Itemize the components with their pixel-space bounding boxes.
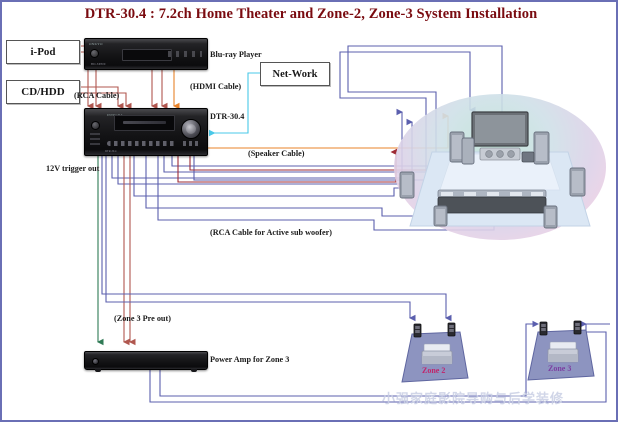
bluray-model-text: BD-SP809 <box>91 62 106 66</box>
zone3-room: Zone 3 <box>522 318 600 386</box>
label-rca-cable: (RCA Cable) <box>74 91 119 100</box>
receiver-front-text: DTR-30.4 <box>105 150 116 153</box>
bluray-player-device[interactable]: ONKYO BD-SP809 <box>84 38 208 70</box>
diagram-canvas: DTR-30.4 : 7.2ch Home Theater and Zone-2… <box>0 0 618 422</box>
bluray-brand-mark: ONKYO <box>89 42 103 46</box>
receiver-aux-buttons[interactable] <box>183 141 199 146</box>
zone2-label: Zone 2 <box>422 366 445 375</box>
label-12v-trigger-out: 12V trigger out <box>46 164 99 173</box>
label-subwoofer-cable: (RCA Cable for Active sub woofer) <box>210 228 332 237</box>
main-theater-room <box>394 94 606 240</box>
receiver-display <box>114 115 175 131</box>
source-box-cdhdd[interactable]: CD/HDD <box>6 80 80 104</box>
power-amp-device[interactable] <box>84 351 208 370</box>
network-label: Net-Work <box>273 69 318 80</box>
receiver-power-button[interactable] <box>91 121 100 130</box>
receiver-side-buttons[interactable] <box>90 133 100 147</box>
zone3-label: Zone 3 <box>548 364 571 373</box>
ipod-label: i-Pod <box>30 46 55 58</box>
bluray-disc-tray <box>122 49 173 61</box>
receiver-input-buttons[interactable] <box>107 141 177 146</box>
label-speaker-cable: (Speaker Cable) <box>248 149 304 158</box>
power-amp-led <box>92 358 99 365</box>
bluray-power-knob[interactable] <box>90 49 99 58</box>
label-hdmi-cable: (HDMI Cable) <box>190 82 241 91</box>
label-zone3-pre-out: (Zone 3 Pre out) <box>114 314 171 323</box>
label-bluray-player: Blu-ray Player <box>210 50 262 59</box>
source-box-ipod[interactable]: i-Pod <box>6 40 80 64</box>
watermark-text: 小强家庭影院导购与后学装修 <box>382 388 564 407</box>
zone2-room: Zone 2 <box>398 320 476 388</box>
cdhdd-label: CD/HDD <box>21 86 64 98</box>
label-receiver-model: DTR-30.4 <box>210 112 244 121</box>
bluray-button-row[interactable] <box>168 51 202 57</box>
source-box-network[interactable]: Net-Work <box>260 62 330 86</box>
receiver-volume-knob[interactable] <box>181 119 201 139</box>
label-power-amp: Power Amp for Zone 3 <box>210 355 289 364</box>
av-receiver-device[interactable]: INTEGRA DTR-30.4 <box>84 108 208 156</box>
